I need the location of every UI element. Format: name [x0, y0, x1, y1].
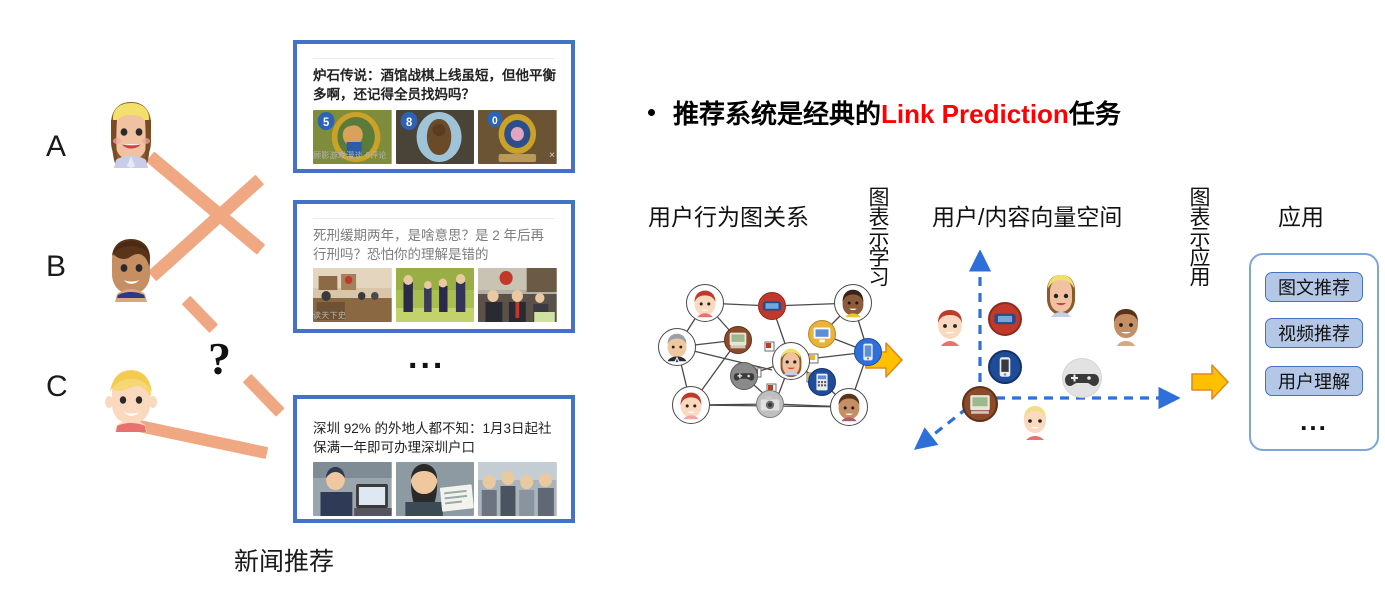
news-card-2-close-icon[interactable]: ×	[549, 310, 555, 321]
person-label-b: B	[46, 250, 66, 284]
graph-node-person-blonde-girl[interactable]	[772, 342, 810, 380]
graph-node-monitor-yellow[interactable]	[808, 320, 836, 348]
vector-point-smartphone-blue[interactable]	[988, 350, 1022, 384]
headline-prefix: 推荐系统是经典的	[673, 99, 881, 129]
app-button-video-recommendation[interactable]: 视频推荐	[1265, 318, 1363, 348]
arrow-right-icon-2	[1188, 360, 1232, 409]
news-card-3-title: 深圳 92% 的外地人都不知：1月3日起社保满一年即可办理深圳户口	[313, 419, 557, 457]
avatar-person-a	[100, 98, 162, 168]
svg-text:5: 5	[323, 116, 330, 129]
edge-b-dash-1	[182, 296, 218, 333]
edge-a-to-card3	[146, 152, 265, 255]
question-mark: ?	[208, 332, 231, 385]
vector-point-console-red[interactable]	[988, 302, 1022, 336]
person-label-c: C	[46, 370, 68, 404]
graph-node-person-suit[interactable]	[658, 328, 696, 366]
news-card-2-inner: 死刑缓期两年，是啥意思？是 2 年后再行刑吗？恐怕你的理解是错的	[303, 210, 565, 325]
news-card-1[interactable]: 炉石传说：酒馆战棋上线虽短，但他平衡多啊，还记得全员找妈吗？ 5	[293, 40, 575, 173]
graph-node-computer-brown[interactable]	[724, 326, 752, 354]
vector-point-person-blond-boy[interactable]	[1016, 402, 1054, 444]
vector-point-gamepad-grey[interactable]	[1062, 358, 1102, 398]
graph-node-camera-grey[interactable]	[756, 390, 784, 418]
avatar-person-b	[100, 232, 162, 302]
graph-node-person-brownhair[interactable]	[830, 388, 868, 426]
woman-document-photo-thumb	[396, 462, 475, 516]
vector-point-person-redhair[interactable]	[930, 308, 970, 350]
user-content-vector-space	[910, 250, 1180, 450]
hearthstone-card-thumb-3: 0	[478, 110, 557, 164]
headline-suffix: 任务	[1069, 99, 1121, 129]
app-button-user-understanding[interactable]: 用户理解	[1265, 366, 1363, 396]
graph-node-person-darkskin[interactable]	[834, 284, 872, 322]
graph-node-calculator-blue[interactable]	[808, 368, 836, 396]
avatar-person-c	[100, 362, 162, 432]
column-title-graph: 用户行为图关系	[648, 198, 809, 232]
headline-row: 推荐系统是经典的Link Prediction任务	[648, 94, 1121, 131]
vector-point-person-blonde-girl[interactable]	[1038, 272, 1084, 322]
news-card-1-title: 炉石传说：酒馆战棋上线虽短，但他平衡多啊，还记得全员找妈吗？	[313, 66, 557, 104]
news-card-1-source: 顾影游戏漫谈 6评论	[313, 150, 387, 161]
slide-canvas: A B C	[0, 0, 1385, 594]
graph-node-gamepad-grey[interactable]	[730, 362, 758, 390]
headline-text: 推荐系统是经典的Link Prediction任务	[673, 94, 1121, 131]
news-card-2-thumbs	[313, 268, 557, 322]
news-card-1-close-icon[interactable]: ×	[549, 150, 555, 161]
court-panel-photo-thumb	[478, 268, 557, 322]
application-panel: 图文推荐 视频推荐 用户理解 ...	[1249, 253, 1379, 451]
news-card-2[interactable]: 死刑缓期两年，是啥意思？是 2 年后再行刑吗？恐怕你的理解是错的	[293, 200, 575, 333]
news-card-1-inner: 炉石传说：酒馆战棋上线虽短，但他平衡多啊，还记得全员找妈吗？ 5	[303, 50, 565, 165]
graph-node-person-redhair[interactable]	[686, 284, 724, 322]
people-outdoors-photo-thumb	[396, 268, 475, 322]
left-caption: 新闻推荐	[234, 542, 334, 578]
svg-text:0: 0	[492, 115, 498, 127]
column-title-application: 应用	[1278, 198, 1324, 232]
app-button-image-text-recommendation[interactable]: 图文推荐	[1265, 272, 1363, 302]
graph-node-console-red[interactable]	[758, 292, 786, 320]
queue-office-photo-thumb	[478, 462, 557, 516]
officer-computer-photo-thumb	[313, 462, 392, 516]
vertical-label-graph-representation-application: 图表示应用	[1183, 186, 1213, 286]
news-card-2-source: 读天下史	[313, 310, 346, 321]
news-card-3-inner: 深圳 92% 的外地人都不知：1月3日起社保满一年即可办理深圳户口	[303, 405, 565, 515]
graph-node-person-red[interactable]	[672, 386, 710, 424]
cards-ellipsis: ...	[408, 352, 445, 362]
news-card-3[interactable]: 深圳 92% 的外地人都不知：1月3日起社保满一年即可办理深圳户口	[293, 395, 575, 523]
news-card-2-title: 死刑缓期两年，是啥意思？是 2 年后再行刑吗？恐怕你的理解是错的	[313, 226, 557, 264]
hearthstone-card-thumb-2: 8	[396, 110, 475, 164]
edge-b-dash-2	[243, 374, 285, 417]
bullet-icon	[648, 109, 655, 116]
card-divider	[313, 218, 555, 219]
application-more-ellipsis: ...	[1251, 415, 1377, 427]
vector-point-person-brownhair[interactable]	[1106, 306, 1146, 350]
svg-text:8: 8	[406, 116, 413, 129]
card-divider	[313, 58, 555, 59]
user-behavior-graph	[648, 258, 878, 428]
headline-highlight: Link Prediction	[881, 99, 1069, 129]
column-title-vector: 用户/内容向量空间	[932, 198, 1122, 232]
news-card-3-thumbs	[313, 462, 557, 516]
edge-c-to-card1	[148, 175, 264, 282]
graph-node-smartphone-blue[interactable]	[854, 338, 882, 366]
person-label-a: A	[46, 130, 66, 164]
vector-point-computer-brown[interactable]	[962, 386, 998, 422]
